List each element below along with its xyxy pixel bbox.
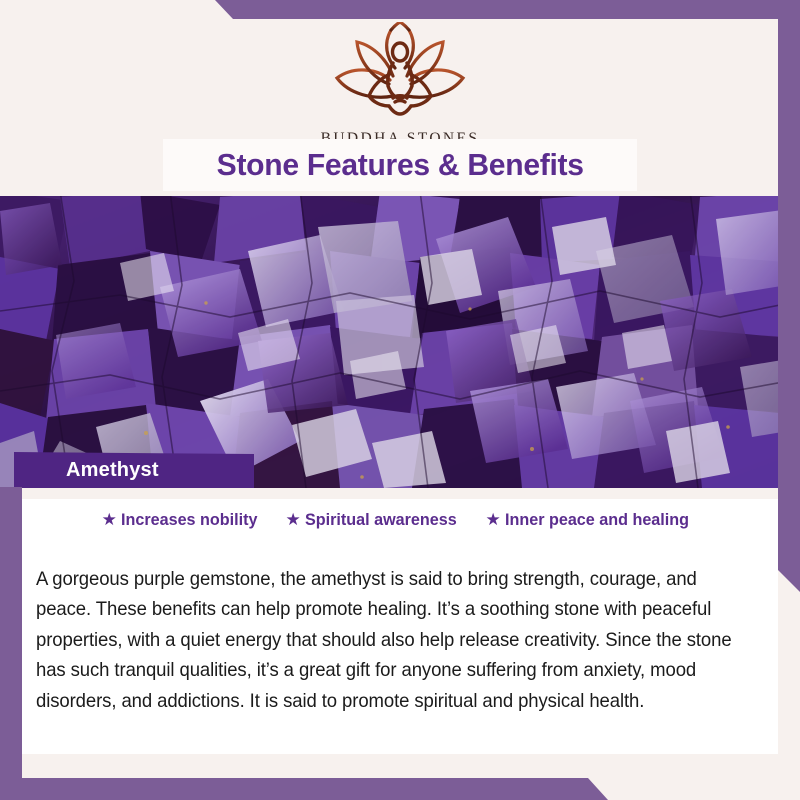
brand-logo: BUDDHA STONES: [0, 22, 800, 148]
infographic-page: BUDDHA STONES: [0, 0, 800, 800]
title-plate: Stone Features & Benefits: [163, 139, 637, 191]
star-icon: ★: [286, 511, 301, 528]
amethyst-hero-image: [0, 191, 800, 488]
frame-right-bar: [778, 0, 800, 592]
stone-name: Amethyst: [66, 459, 159, 482]
frame-left-bar: [0, 487, 22, 800]
page-title: Stone Features & Benefits: [216, 147, 583, 183]
benefit-label: Inner peace and healing: [505, 510, 689, 530]
star-icon: ★: [102, 511, 117, 528]
star-icon: ★: [485, 511, 500, 528]
benefit-label: Spiritual awareness: [305, 510, 457, 530]
stone-description: A gorgeous purple gemstone, the amethyst…: [36, 564, 735, 717]
benefit-item-3: ★ Inner peace and healing: [485, 510, 698, 530]
frame-bottom-bar: [0, 778, 800, 800]
benefit-item-1: ★ Increases nobility: [102, 510, 265, 530]
benefit-label: Increases nobility: [121, 510, 257, 530]
lotus-buddha-logo-icon: [315, 22, 485, 128]
stone-name-banner: Amethyst: [14, 452, 254, 488]
content-top-strip: [22, 488, 778, 499]
content-card: ★ Increases nobility ★ Spiritual awarene…: [22, 488, 778, 754]
benefits-list: ★ Increases nobility ★ Spiritual awarene…: [22, 510, 778, 530]
benefit-item-2: ★ Spiritual awareness: [286, 510, 465, 530]
amethyst-crystal-graphic: [0, 191, 800, 488]
